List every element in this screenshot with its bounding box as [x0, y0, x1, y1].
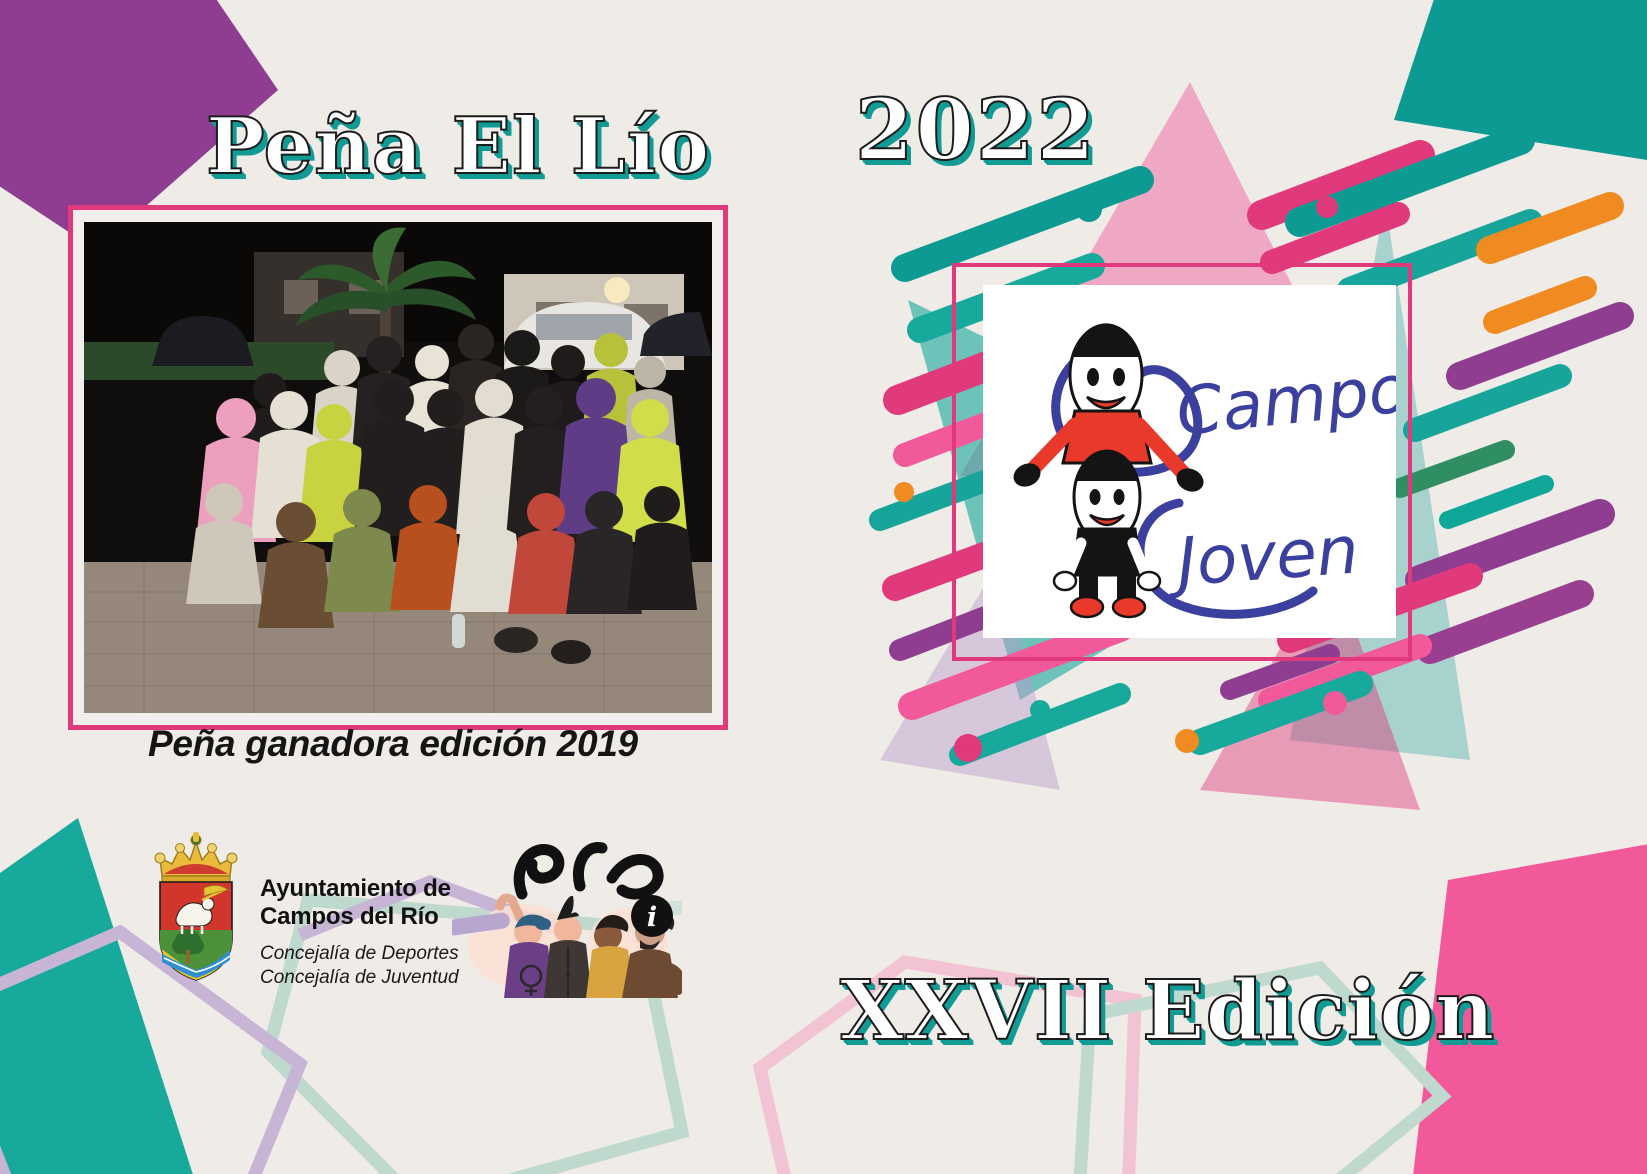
campos-joven-word-bottom: Joven: [1164, 511, 1361, 601]
dot-orange-2: [1175, 729, 1199, 753]
dot-pink-1: [1316, 196, 1338, 218]
ayuntamiento-departments: Concejalía de Deportes Concejalía de Juv…: [260, 942, 459, 990]
ayuntamiento-logo-block: Ayuntamiento de Campos del Río Concejalí…: [146, 830, 459, 990]
ayuntamiento-line1: Ayuntamiento de: [260, 875, 459, 903]
dot-pink-3: [954, 734, 982, 762]
dot-pink-2: [1323, 691, 1347, 715]
pid-wordmark: [519, 847, 658, 894]
ayuntamiento-line2: Campos del Río: [260, 903, 459, 931]
department-juventud: Concejalía de Juventud: [260, 966, 459, 990]
bar-orange-r2: [1495, 288, 1585, 322]
campos-joven-word-top: Campos: [1173, 346, 1396, 451]
bar-purple-r3: [1430, 594, 1580, 650]
poster-canvas: Campos Joven: [0, 0, 1647, 1174]
year-title: 2022: [855, 88, 1097, 172]
department-deportes: Concejalía de Deportes: [260, 942, 459, 966]
bar-teal-r4: [1448, 484, 1545, 520]
crown-icon: [155, 832, 237, 882]
photo-caption: Peña ganadora edición 2019: [148, 723, 638, 765]
edition-title: XXVII Edición: [840, 970, 1496, 1052]
ayuntamiento-name: Ayuntamiento de Campos del Río: [260, 875, 459, 931]
dot-teal-2: [1030, 700, 1050, 720]
pid-logo-block: i: [452, 828, 682, 998]
campos-joven-logo-card: Campos Joven: [983, 285, 1396, 638]
coat-of-arms-campos-del-rio: [146, 830, 246, 982]
pid-logo: i: [452, 828, 682, 998]
page-title-pena: Peña El Lío: [206, 108, 710, 186]
group-photo: [84, 222, 712, 713]
dot-orange-1: [894, 482, 914, 502]
dot-teal-1: [1076, 196, 1102, 222]
campos-joven-logo: Campos Joven: [983, 285, 1396, 638]
group-photo-illustration: [84, 222, 712, 713]
info-badge-letter: i: [647, 902, 657, 933]
bar-teal-r3: [1415, 376, 1560, 430]
